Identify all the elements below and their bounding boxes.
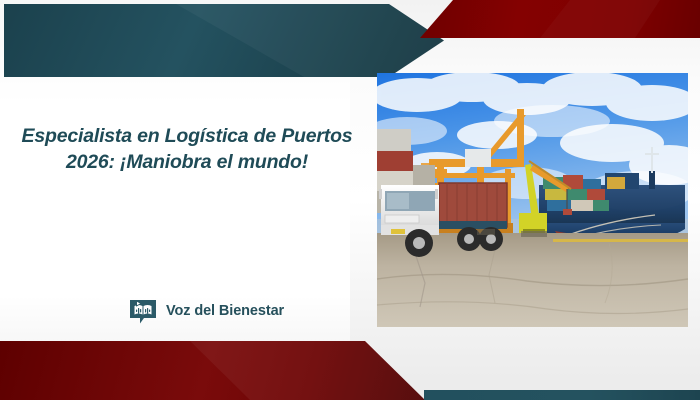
page-title-line-2: 2026: ¡Maniobra el mundo! bbox=[8, 149, 366, 175]
brand-logo: Voz del Bienestar bbox=[128, 296, 284, 326]
promo-banner: Especialista en Logística de Puertos 202… bbox=[0, 0, 700, 400]
teal-strip-bottom-shape bbox=[424, 390, 700, 400]
page-title-line-1: Especialista en Logística de Puertos bbox=[8, 123, 366, 149]
speech-bubble-book-audio-icon bbox=[128, 296, 158, 326]
port-photo bbox=[377, 73, 688, 327]
brand-name-label: Voz del Bienestar bbox=[166, 303, 284, 319]
page-title: Especialista en Logística de Puertos 202… bbox=[8, 123, 366, 175]
port-photo-illustration bbox=[377, 73, 688, 327]
